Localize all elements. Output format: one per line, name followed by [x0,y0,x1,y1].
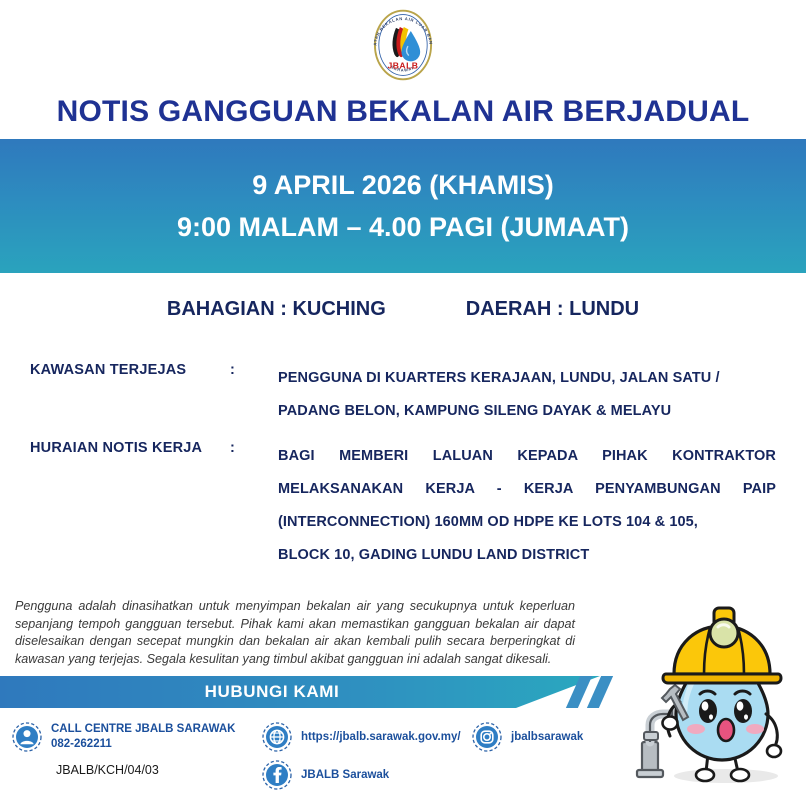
division-row: BAHAGIAN : KUCHING DAERAH : LUNDU [0,298,806,321]
svg-text:JBALB: JBALB [388,60,419,70]
contact-band-title: HUBUNGI KAMI [205,682,340,702]
detail-row-affected-area: KAWASAN TERJEJAS : PENGGUNA DI KUARTERS … [30,362,776,428]
affected-area-value: PENGGUNA DI KUARTERS KERAJAAN, LUNDU, JA… [278,362,776,428]
affected-area-colon: : [230,362,278,378]
call-centre-text: CALL CENTRE JBALB SARAWAK 082-262211 [51,722,235,752]
date-band: 9 APRIL 2026 (KHAMIS) 9:00 MALAM – 4.00 … [0,139,806,273]
water-droplet-mascot [622,596,806,793]
globe-icon [262,722,292,752]
work-description-label: HURAIAN NOTIS KERJA [30,440,230,456]
call-centre-number: 082-262211 [51,737,235,752]
contact-instagram[interactable]: jbalbsarawak [472,722,583,752]
facebook-icon [262,760,292,790]
work-description-line-2: MELAKSANAKAN KERJA - KERJA PENYAMBUNGAN … [278,473,776,506]
affected-area-line-1: PENGGUNA DI KUARTERS KERAJAAN, LUNDU, JA… [278,370,720,386]
affected-area-label: KAWASAN TERJEJAS [30,362,230,378]
reference-code: JBALB/KCH/04/03 [56,763,159,777]
contact-facebook[interactable]: JBALB Sarawak [262,760,389,790]
contact-website[interactable]: https://jbalb.sarawak.gov.my/ [262,722,461,752]
date-line-1: 9 APRIL 2026 (KHAMIS) [252,164,554,206]
detail-row-work-description: HURAIAN NOTIS KERJA : BAGI MEMBERI LALUA… [30,440,776,572]
logo-container: JABATAN BEKALAN AIR LUAR BANDAR SARAWAK … [0,6,806,84]
instagram-icon [472,722,502,752]
daerah-label: DAERAH : LUNDU [466,298,639,321]
instagram-handle: jbalbsarawak [511,730,583,745]
facebook-handle: JBALB Sarawak [301,768,389,783]
work-description-line-3: (INTERCONNECTION) 160MM OD HDPE KE LOTS … [278,506,776,539]
work-description-line-1: BAGI MEMBERI LALUAN KEPADA PIHAK KONTRAK… [278,440,776,473]
user-icon [12,722,42,752]
work-description-line-4: BLOCK 10, GADING LUNDU LAND DISTRICT [278,539,776,572]
contact-call-centre[interactable]: CALL CENTRE JBALB SARAWAK 082-262211 [12,722,235,752]
contact-band: HUBUNGI KAMI [0,676,600,708]
page-title: NOTIS GANGGUAN BEKALAN AIR BERJADUAL [0,95,806,129]
decorative-stripe-2 [587,676,613,708]
affected-area-line-2: PADANG BELON, KAMPUNG SILENG DAYAK & MEL… [278,403,671,419]
call-centre-name: CALL CENTRE JBALB SARAWAK [51,723,235,735]
work-description-value: BAGI MEMBERI LALUAN KEPADA PIHAK KONTRAK… [278,440,776,572]
website-url: https://jbalb.sarawak.gov.my/ [301,730,461,745]
jbalb-logo: JABATAN BEKALAN AIR LUAR BANDAR SARAWAK … [364,6,442,84]
advisory-paragraph: Pengguna adalah dinasihatkan untuk menyi… [15,598,575,668]
date-line-2: 9:00 MALAM – 4.00 PAGI (JUMAAT) [177,206,629,248]
bahagian-label: BAHAGIAN : KUCHING [167,298,386,321]
work-description-colon: : [230,440,278,456]
